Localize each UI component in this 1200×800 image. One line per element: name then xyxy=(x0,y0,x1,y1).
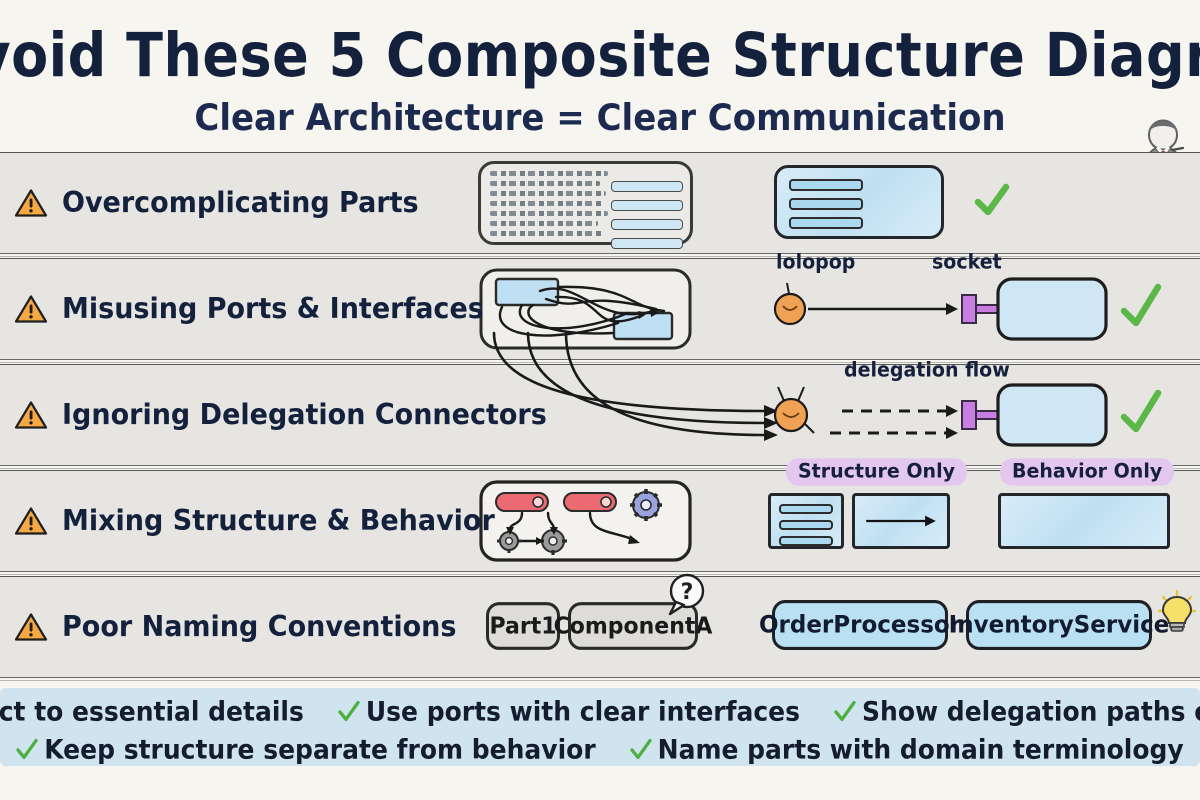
lightbulb-icon xyxy=(1156,589,1198,633)
mistake-row-mixing-structure-behavior[interactable]: Mixing Structure & Behavior xyxy=(0,470,1200,572)
tip-text: Abstract to essential details xyxy=(0,696,304,726)
structure-only-label: Structure Only xyxy=(786,458,967,485)
bad-example-mixed-structure-behavior xyxy=(478,479,693,563)
green-check-icon xyxy=(338,698,360,723)
vague-name-box: Part1 xyxy=(486,602,560,650)
domain-name-box: InventoryService xyxy=(966,600,1152,650)
warning-triangle-icon xyxy=(14,400,48,430)
warning-triangle-icon xyxy=(14,506,48,536)
tips-line-1: Abstract to essential details Use ports … xyxy=(0,692,1200,730)
lollipop-interface-icon xyxy=(775,387,814,433)
header: Avoid These 5 Composite Structure Diagra… xyxy=(0,0,1200,152)
warning-triangle-icon xyxy=(14,188,48,218)
row-label: Overcomplicating Parts xyxy=(14,188,419,219)
good-example-lollipop-socket: lolopop socket xyxy=(760,265,1190,353)
svg-text:?: ? xyxy=(681,580,694,605)
tip-item: Abstract to essential details xyxy=(0,696,304,726)
green-check-icon xyxy=(630,736,652,761)
green-check-icon xyxy=(1124,287,1158,323)
mistake-row-overcomplicating-parts[interactable]: Overcomplicating Parts xyxy=(0,152,1200,254)
good-example-domain-names: OrderProcessor InventoryService xyxy=(760,583,1190,671)
page-subtitle: Clear Architecture = Clear Communication xyxy=(194,96,1005,139)
tip-item: Use ports with clear interfaces xyxy=(338,696,800,726)
page-title: Avoid These 5 Composite Structure Diagra… xyxy=(0,20,1200,91)
tip-item: Keep structure separate from behavior xyxy=(16,734,595,764)
row-title: Ignoring Delegation Connectors xyxy=(62,399,547,432)
lollipop-interface-icon xyxy=(775,283,805,324)
mistake-row-poor-naming[interactable]: Poor Naming Conventions Part1 ComponentA… xyxy=(0,576,1200,678)
behavior-only-label: Behavior Only xyxy=(1000,458,1174,485)
tip-text: Name parts with domain terminology xyxy=(658,734,1184,764)
domain-name-box: OrderProcessor xyxy=(772,600,948,650)
mistake-rows: Overcomplicating Parts xyxy=(0,152,1200,684)
green-check-icon xyxy=(16,736,38,761)
infographic-page: Avoid These 5 Composite Structure Diagra… xyxy=(0,0,1200,800)
row-label: Mixing Structure & Behavior xyxy=(14,506,495,537)
row-label: Misusing Ports & Interfaces xyxy=(14,294,484,325)
tip-text: Use ports with clear interfaces xyxy=(366,696,800,726)
socket-label: socket xyxy=(932,250,1002,273)
row-title: Mixing Structure & Behavior xyxy=(62,505,495,538)
row-label: Ignoring Delegation Connectors xyxy=(14,400,547,431)
row-title: Misusing Ports & Interfaces xyxy=(62,293,484,326)
bad-example-loose-arrows xyxy=(480,319,800,467)
bad-example-vague-names: Part1 ComponentA ? xyxy=(486,597,701,657)
mistake-row-ignoring-delegation[interactable]: Ignoring Delegation Connectors xyxy=(0,364,1200,466)
bad-example-cluttered-part xyxy=(478,161,693,245)
warning-triangle-icon xyxy=(14,612,48,642)
lollipop-label: lolopop xyxy=(776,250,855,273)
tip-text: Keep structure separate from behavior xyxy=(44,734,595,764)
green-check-icon xyxy=(972,181,1012,221)
tip-item: Show delegation paths explicitly xyxy=(834,696,1200,726)
green-check-icon xyxy=(1124,393,1158,429)
delegation-flow-label: delegation flow xyxy=(844,358,1010,381)
row-title: Poor Naming Conventions xyxy=(62,611,456,644)
good-example-delegation-flow: delegation flow xyxy=(760,371,1190,459)
good-example-separated-concerns: Structure Only Behavior Only xyxy=(760,477,1190,565)
row-label: Poor Naming Conventions xyxy=(14,612,456,643)
tip-text: Show delegation paths explicitly xyxy=(862,696,1200,726)
good-example-clean-part xyxy=(760,159,1190,247)
warning-triangle-icon xyxy=(14,294,48,324)
question-bubble-icon: ? xyxy=(662,571,710,619)
tips-banner: Abstract to essential details Use ports … xyxy=(0,688,1200,766)
green-check-icon xyxy=(834,698,856,723)
tips-line-2: Keep structure separate from behavior Na… xyxy=(0,730,1200,768)
row-title: Overcomplicating Parts xyxy=(62,187,419,220)
tip-item: Name parts with domain terminology xyxy=(630,734,1184,764)
